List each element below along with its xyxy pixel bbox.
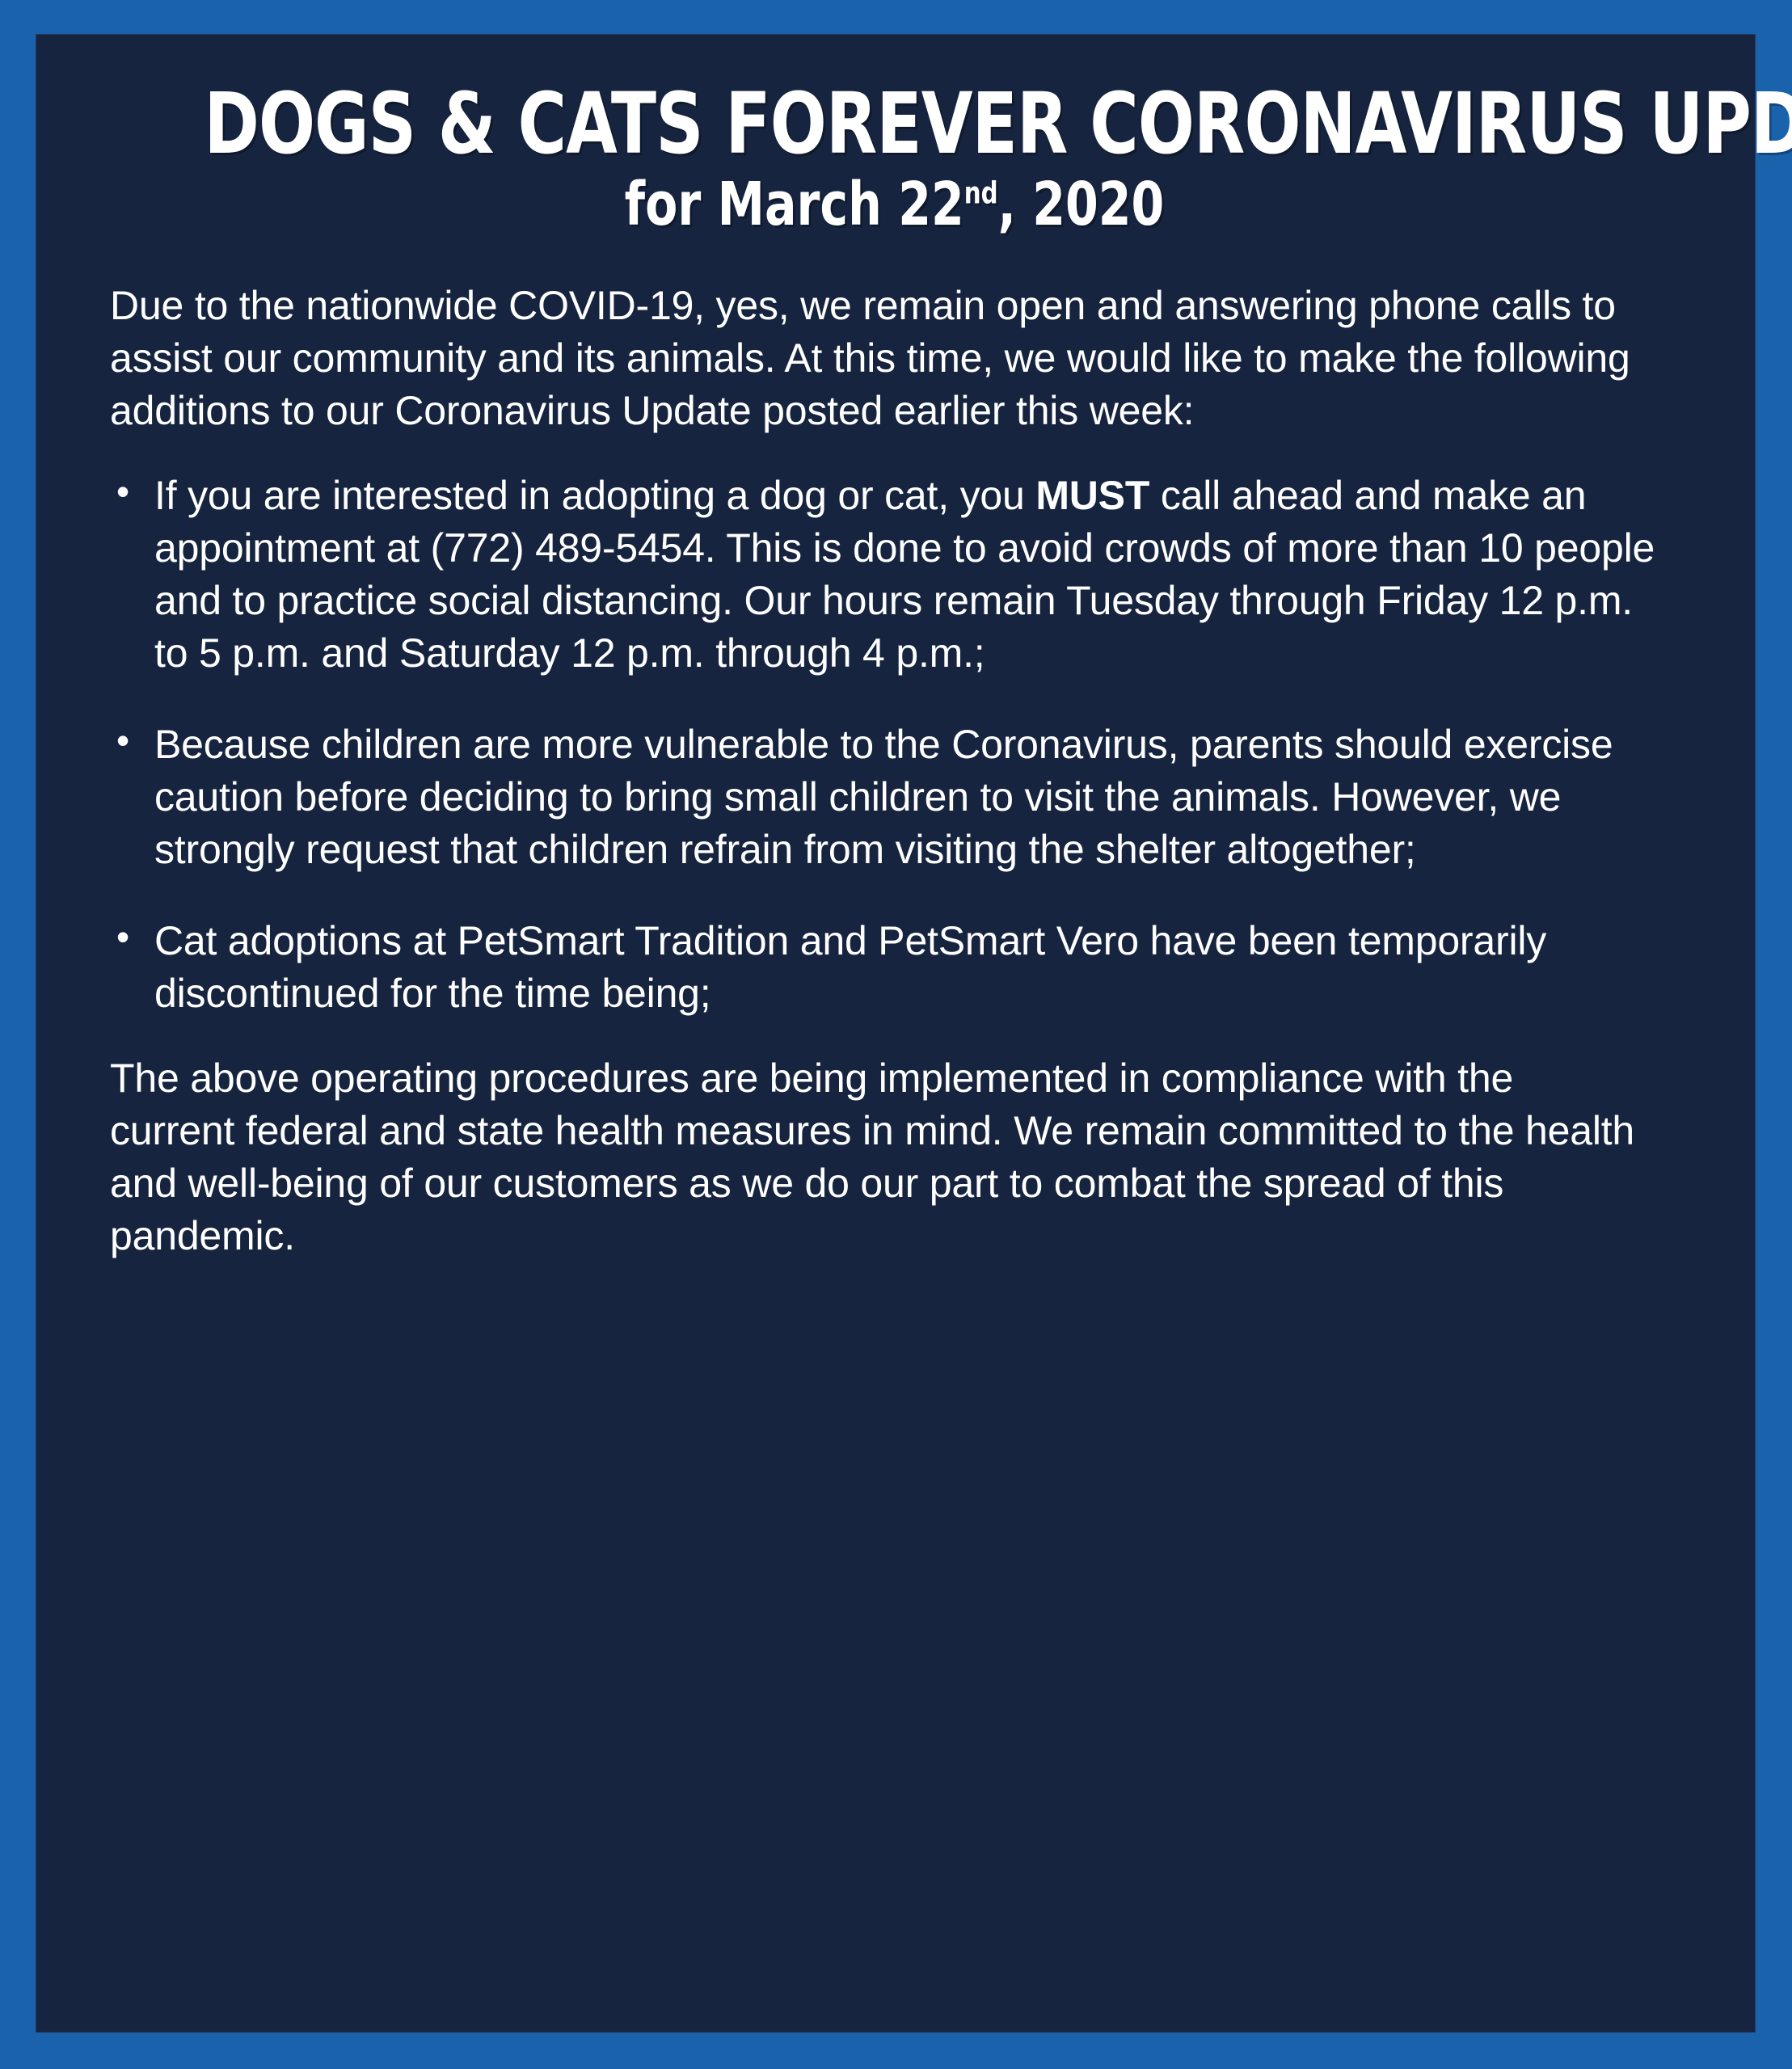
subtitle-prefix: for March 22 bbox=[625, 170, 964, 239]
page-subtitle: for March 22nd, 2020 bbox=[204, 173, 1584, 238]
list-item: Because children are more vulnerable to … bbox=[110, 718, 1679, 876]
subtitle-ordinal-suffix: nd bbox=[964, 175, 998, 210]
announcement-body: Due to the nationwide COVID-19, yes, we … bbox=[110, 280, 1679, 1262]
closing-paragraph: The above operating procedures are being… bbox=[110, 1052, 1679, 1262]
must-emphasis: MUST bbox=[1035, 473, 1149, 518]
page-title: DOGS & CATS FOREVER CORONAVIRUS UPDATE bbox=[204, 81, 1584, 166]
policy-bullet-list: If you are interested in adopting a dog … bbox=[110, 470, 1679, 1020]
poster-root: DOGS & CATS FOREVER CORONAVIRUS UPDATE f… bbox=[0, 0, 1792, 2069]
poster-header: DOGS & CATS FOREVER CORONAVIRUS UPDATE f… bbox=[110, 81, 1679, 238]
subtitle-year: , 2020 bbox=[998, 170, 1165, 239]
announcement-panel: DOGS & CATS FOREVER CORONAVIRUS UPDATE f… bbox=[36, 34, 1756, 2033]
list-item: If you are interested in adopting a dog … bbox=[110, 470, 1679, 680]
bullet-text-lead: If you are interested in adopting a dog … bbox=[154, 473, 1035, 518]
intro-paragraph: Due to the nationwide COVID-19, yes, we … bbox=[110, 280, 1679, 437]
list-item: Cat adoptions at PetSmart Tradition and … bbox=[110, 915, 1679, 1020]
